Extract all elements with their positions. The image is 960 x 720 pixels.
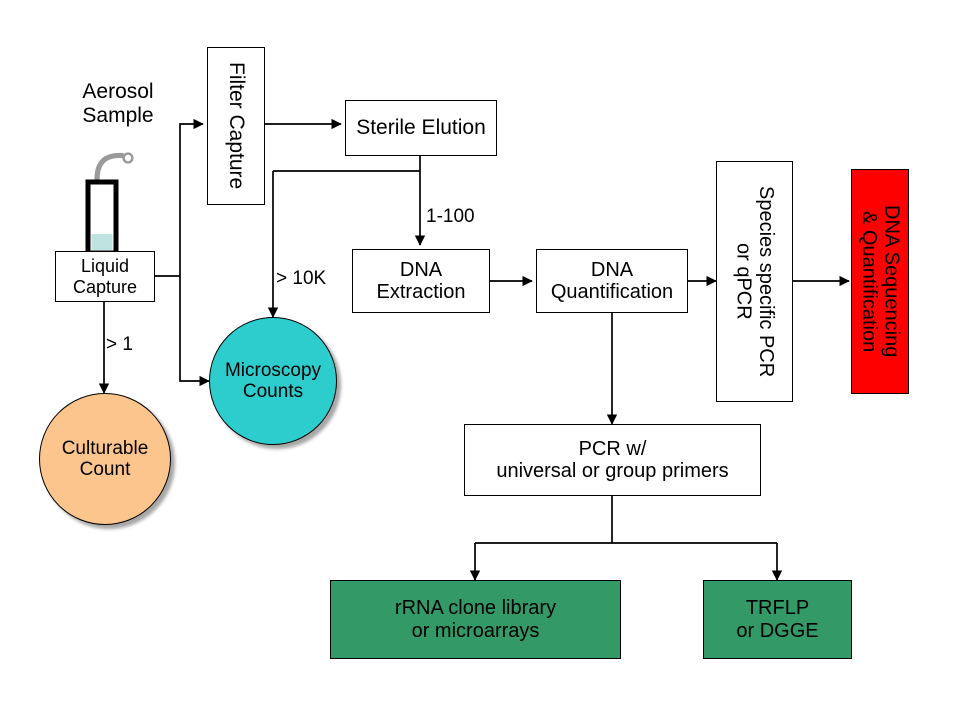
aerosol-sample-label: Aerosol Sample: [58, 80, 178, 127]
node-dna-quantification[interactable]: DNA Quantification: [536, 249, 688, 313]
flowchart-canvas: Aerosol Sample > 1 > 10K 1-100 Filter Ca…: [0, 0, 960, 720]
edge-label-gt10k: > 10K: [276, 268, 346, 289]
node-pcr-universal[interactable]: PCR w/ universal or group primers: [464, 424, 761, 496]
node-species-specific-pcr[interactable]: Species specific PCR or qPCR: [716, 161, 793, 402]
node-dna-extraction[interactable]: DNA Extraction: [352, 249, 490, 313]
node-microscopy-counts[interactable]: Microscopy Counts: [209, 317, 337, 445]
edge-label-gt1: > 1: [106, 334, 152, 355]
node-dna-sequencing[interactable]: DNA Sequencing & Quantification: [851, 169, 909, 394]
node-filter-capture[interactable]: Filter Capture: [207, 47, 265, 205]
node-rrna-clone-library[interactable]: rRNA clone library or microarrays: [330, 580, 621, 659]
wire-liquidcapture-to-filtercapture: [180, 124, 203, 276]
node-culturable-count[interactable]: Culturable Count: [39, 393, 171, 525]
node-liquid-capture[interactable]: Liquid Capture: [55, 251, 155, 302]
node-trflp-dgge[interactable]: TRFLP or DGGE: [703, 580, 852, 659]
node-sterile-elution[interactable]: Sterile Elution: [345, 100, 497, 156]
wire-liquidcapture-to-microscopy: [180, 276, 209, 381]
edge-label-1-100: 1-100: [426, 206, 496, 227]
impinger-sampler-icon: [75, 145, 149, 257]
